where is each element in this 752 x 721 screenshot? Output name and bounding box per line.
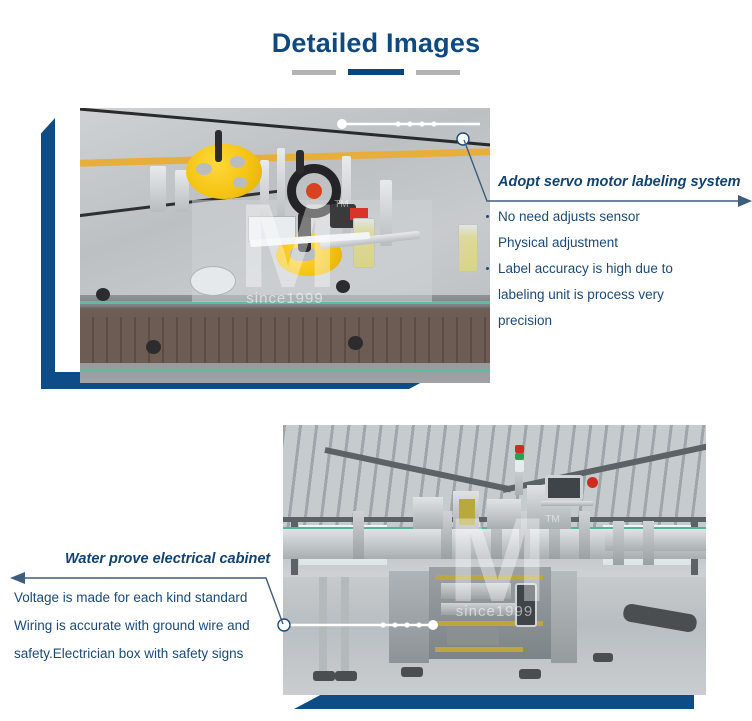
accent-bar-left xyxy=(41,118,55,376)
rule-dash-left xyxy=(292,70,336,75)
callout-1-bullet-1-line-2: Physical adjustment xyxy=(498,235,618,250)
photo-electrical-cabinet: M since1999 TM xyxy=(283,425,706,695)
photo1-connector-line xyxy=(80,108,490,383)
callout-2-line-2: Wiring is accurate with ground wire and xyxy=(14,612,280,640)
title-underline-rule xyxy=(0,69,752,75)
callout-1-bullet-list: No need adjusts sensor Physical adjustme… xyxy=(485,204,747,334)
callout-1-leader-path xyxy=(464,140,748,201)
callout-1-bullet-1: No need adjusts sensor Physical adjustme… xyxy=(485,204,747,256)
callout-2-title: Water prove electrical cabinet xyxy=(65,551,270,567)
callout-2-line-1: Voltage is made for each kind standard xyxy=(14,584,280,612)
rule-dash-center xyxy=(348,69,404,75)
callout-2-text-block: Voltage is made for each kind standard W… xyxy=(14,584,280,668)
callout-1-bullet-2: Label accuracy is high due to labeling u… xyxy=(485,256,747,334)
photo-labeling-unit: M since1999 TM xyxy=(80,108,490,383)
page-title: Detailed Images xyxy=(0,28,752,59)
callout-2-arrowhead xyxy=(10,572,25,584)
callout-1-bullet-2-line-3: precision xyxy=(498,313,552,328)
callout-2-line-3: safety.Electrician box with safety signs xyxy=(14,640,280,668)
callout-1-bullet-2-line-1: Label accuracy is high due to xyxy=(498,261,673,276)
rule-dash-right xyxy=(416,70,460,75)
image-block-labeling-unit: M since1999 TM xyxy=(30,100,490,400)
callout-1-bullet-1-line-1: No need adjusts sensor xyxy=(498,209,640,224)
photo2-connector-line xyxy=(283,425,706,695)
callout-1-bullet-2-line-2: labeling unit is process very xyxy=(498,287,664,302)
callout-1-title: Adopt servo motor labeling system xyxy=(498,174,741,190)
image-block-electrical-cabinet: M since1999 TM xyxy=(260,415,752,721)
